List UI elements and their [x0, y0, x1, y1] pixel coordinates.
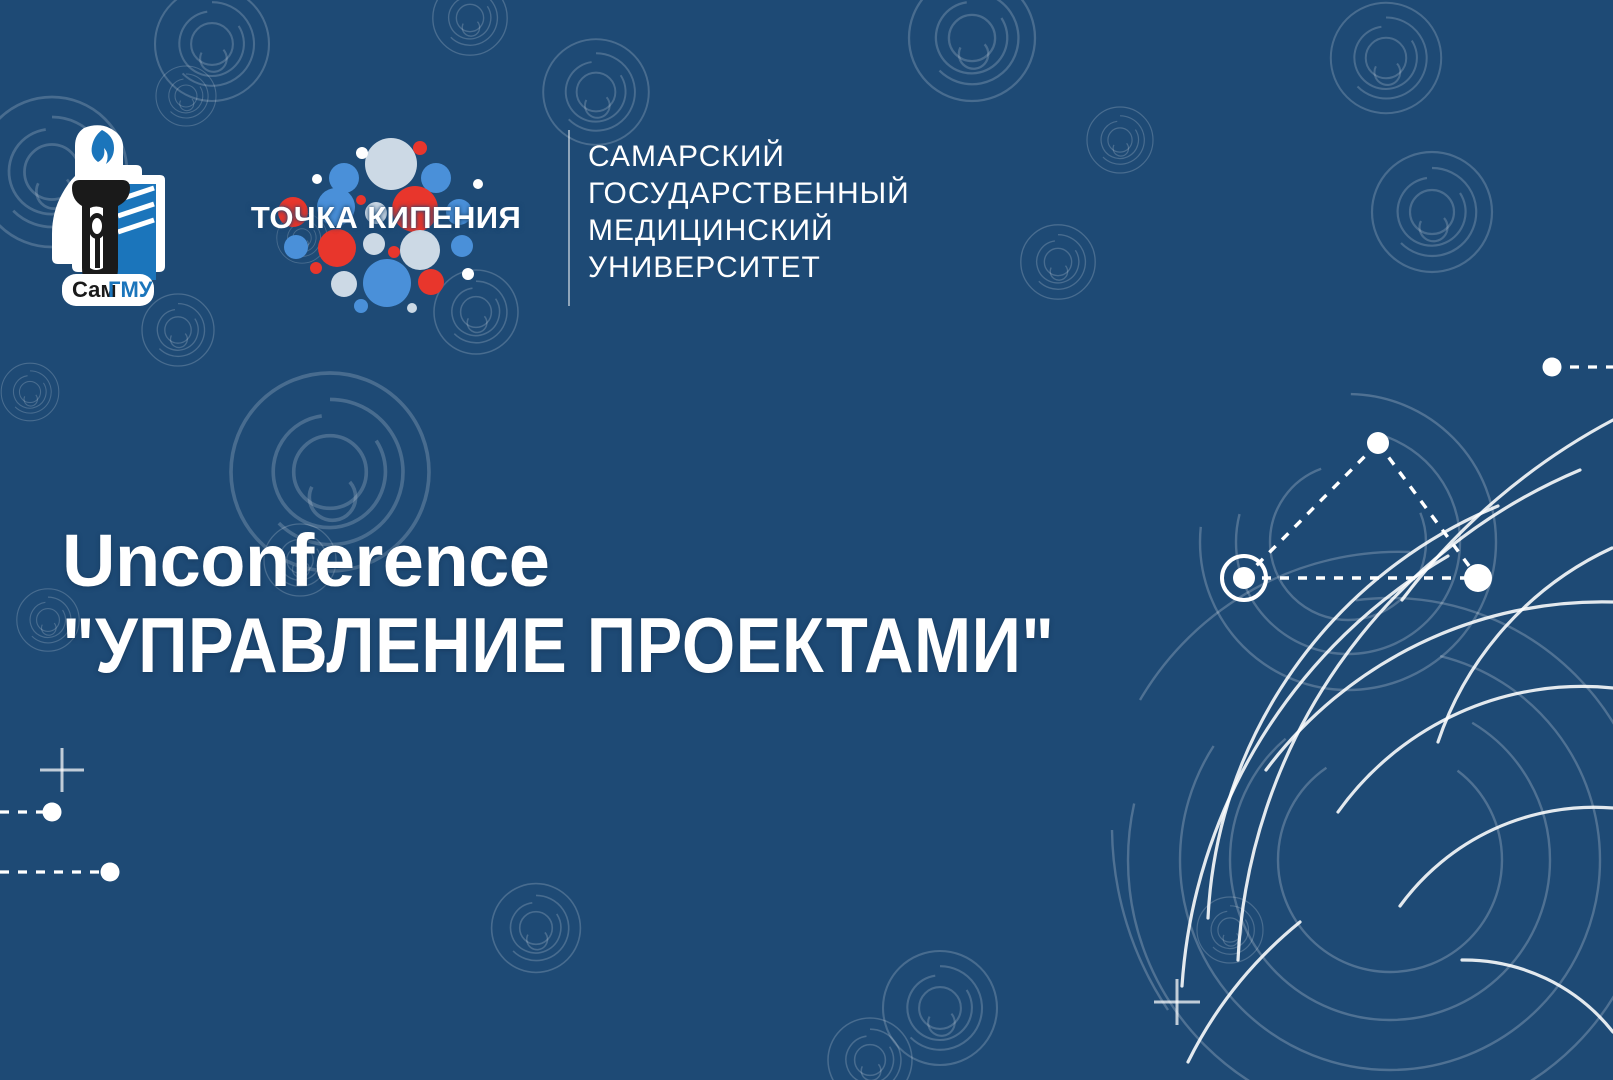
- dot-left-upper: [43, 803, 62, 822]
- logo-divider: [568, 130, 570, 306]
- plus-mark-bottom-right: [1154, 979, 1200, 1025]
- samgmu-torch-book-emblem: Сам ГМУ: [40, 122, 166, 310]
- presentation-slide: Сам ГМУ: [0, 0, 1613, 1080]
- network-node-apex: [1367, 432, 1389, 454]
- university-name-line-3: МЕДИЦИНСКИЙ: [588, 212, 910, 249]
- university-name-line-1: САМАРСКИЙ: [588, 138, 910, 175]
- tochka-kipeniya-wordmark: ТОЧКА КИПЕНИЯ: [216, 200, 556, 236]
- network-node-right: [1464, 564, 1492, 592]
- dot-left-lower: [101, 863, 120, 882]
- university-name-line-4: УНИВЕРСИТЕТ: [588, 249, 910, 286]
- title-line-unconference: Unconference: [62, 520, 1190, 602]
- samgmu-label-blue: ГМУ: [108, 277, 153, 302]
- network-node-ringed: [1222, 556, 1266, 600]
- tochka-kipeniya-logo: ТОЧКА КИПЕНИЯ: [216, 116, 556, 316]
- logo-row: Сам ГМУ: [40, 118, 556, 313]
- university-name: САМАРСКИЙ ГОСУДАРСТВЕННЫЙ МЕДИЦИНСКИЙ УН…: [588, 138, 910, 286]
- page-title: Unconference "УПРАВЛЕНИЕ ПРОЕКТАМИ": [62, 520, 1190, 688]
- dot-top-right: [1543, 358, 1562, 377]
- plus-mark-left: [40, 748, 84, 792]
- university-name-line-2: ГОСУДАРСТВЕННЫЙ: [588, 175, 910, 212]
- title-line-topic: "УПРАВЛЕНИЕ ПРОЕКТАМИ": [62, 602, 1054, 688]
